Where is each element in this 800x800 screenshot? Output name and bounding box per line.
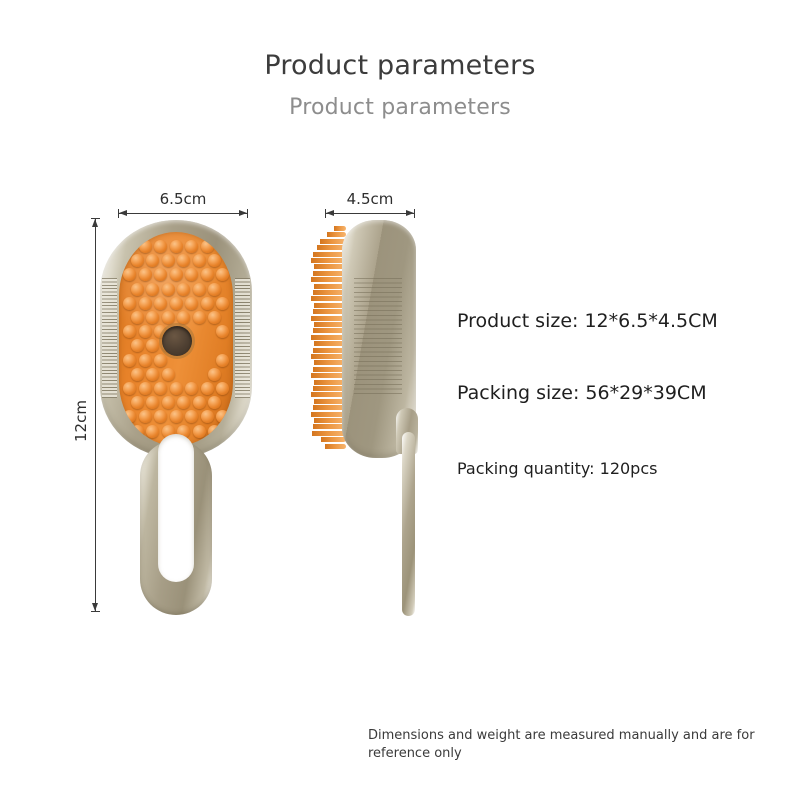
brush-bristle [325,444,346,449]
brush-bristle [313,367,347,372]
brush-handle-loop [140,440,212,615]
brush-nub [162,368,175,381]
brush-nub [146,254,159,267]
brush-nub [208,254,221,267]
spec-packing-quantity: Packing quantity: 120pcs [457,459,657,478]
brush-nub [208,283,221,296]
brush-bristle [311,373,346,378]
brush-nub [170,297,183,310]
brush-nub [162,311,175,324]
brush-bristle [313,424,347,429]
brush-nub [139,382,152,395]
comb-ridges-side [354,278,402,396]
brush-nub [123,268,136,281]
brush-nub [146,283,159,296]
brush-nub [131,368,144,381]
brush-nub [146,339,159,352]
comb-teeth-left [102,278,117,398]
dimension-arrow-side-width [325,209,415,218]
brush-nub [201,382,214,395]
brush-bristle [311,392,346,397]
brush-bristle [311,316,346,321]
brush-nub [201,410,214,423]
brush-nub [201,297,214,310]
brush-bristle [311,354,346,359]
brush-nub [131,339,144,352]
brush-nub [131,254,144,267]
brush-center-nozzle-hole [162,326,192,356]
brush-nub [216,297,229,310]
brush-nub [170,382,183,395]
brush-bristle [334,226,346,231]
brush-nub [146,368,159,381]
brush-nub [216,354,229,367]
brush-nub [139,268,152,281]
brush-handle-opening [158,434,194,582]
brush-bristles [312,226,346,452]
brush-bristle [313,271,347,276]
brush-nub [154,382,167,395]
brush-bristle [311,258,346,263]
brush-bristle [313,309,347,314]
brush-bristle [327,232,346,237]
brush-nub [208,311,221,324]
brush-bristle [312,431,346,436]
brush-nub [154,354,167,367]
brush-nub [131,396,144,409]
brush-nub [216,325,229,338]
brush-bristle [313,348,347,353]
brush-nub [139,297,152,310]
brush-nub [154,297,167,310]
brush-nub [185,268,198,281]
brush-nub [177,311,190,324]
brush-nub [146,311,159,324]
brush-nub [201,240,214,253]
dimension-arrow-front-width [118,209,248,218]
brush-nub [131,311,144,324]
dimension-label-front-width: 6.5cm [118,190,248,208]
page-title: Product parameters [0,50,800,81]
brush-nub [216,410,229,423]
dimension-label-side-width: 4.5cm [325,190,415,208]
brush-nub [201,268,214,281]
brush-nub [216,268,229,281]
brush-bristle [311,296,346,301]
brush-nub [193,396,206,409]
brush-nub [131,425,144,438]
comb-teeth-right [235,278,250,398]
spec-packing-size: Packing size: 56*29*39CM [457,382,707,404]
brush-nub [146,396,159,409]
brush-nub [193,425,206,438]
product-front-view [100,220,252,458]
brush-nub [139,410,152,423]
brush-nub [177,283,190,296]
brush-nub [185,410,198,423]
spec-product-size: Product size: 12*6.5*4.5CM [457,310,718,332]
brush-nub [193,311,206,324]
brush-bristle [311,412,346,417]
brush-nub [162,283,175,296]
brush-nub [154,410,167,423]
brush-nub [162,396,175,409]
brush-nub [193,283,206,296]
brush-nub [216,382,229,395]
brush-nub [123,325,136,338]
brush-bristle [311,335,346,340]
brush-bristle [313,405,347,410]
brush-nub [146,425,159,438]
brush-nub [123,297,136,310]
brush-nub [193,254,206,267]
brush-bristle [311,277,346,282]
brush-bristle [313,290,347,295]
brush-bristle [321,437,346,442]
brush-bristle [313,386,347,391]
brush-bristle [313,252,347,257]
brush-nub [170,268,183,281]
brush-nub [185,297,198,310]
dimension-label-height: 12cm [72,400,90,442]
dimension-arrow-height [91,218,100,612]
footer-disclaimer: Dimensions and weight are measured manua… [368,727,776,762]
brush-nub [154,268,167,281]
product-parameters-infographic: Product parameters Product parameters 6.… [0,0,800,800]
brush-nub [208,396,221,409]
brush-nub [208,368,221,381]
brush-nub [185,240,198,253]
brush-nub [170,240,183,253]
brush-bristle [313,328,347,333]
brush-nub [177,396,190,409]
brush-nub [177,254,190,267]
brush-nub [170,410,183,423]
brush-nub [123,410,136,423]
brush-nub [154,240,167,253]
brush-nub [139,240,152,253]
brush-nub [162,254,175,267]
page-subtitle: Product parameters [0,95,800,120]
brush-nub [123,354,136,367]
brush-nub [131,283,144,296]
brush-nub [139,354,152,367]
brush-nub [123,382,136,395]
brush-handle-side [402,432,415,616]
brush-nub [208,425,221,438]
brush-nub [139,325,152,338]
brush-nub [185,382,198,395]
